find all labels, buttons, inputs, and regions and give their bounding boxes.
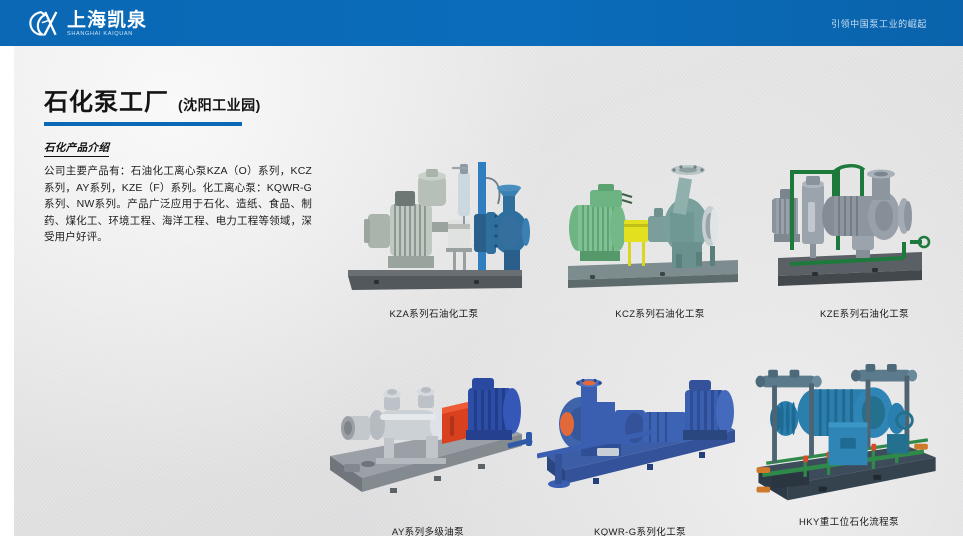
header-slogan: 引领中国泵工业的崛起 — [831, 0, 927, 46]
title-underline-rule — [44, 122, 242, 126]
kze-pump-illustration — [772, 154, 957, 302]
product-caption-hky: HKY重工位石化流程泵 — [748, 514, 950, 528]
product-card-hky[interactable]: HKY重工位石化流程泵 — [748, 362, 950, 528]
product-card-kqwr[interactable]: KQWR-G系列化工泵 — [537, 372, 743, 538]
page-title-sub: (沈阳工业园) — [178, 95, 261, 115]
hky-pump-illustration — [748, 362, 950, 510]
product-card-kcz[interactable]: KCZ系列石油化工泵 — [560, 154, 760, 320]
product-image-kcz — [560, 154, 760, 302]
kqwr-pump-illustration — [537, 372, 743, 520]
product-image-kza — [334, 154, 534, 302]
ay-pump-illustration — [322, 372, 534, 520]
kza-pump-illustration — [334, 154, 534, 302]
left-white-margin — [0, 46, 14, 550]
kaiquan-logo-mark-icon — [28, 10, 62, 38]
intro-block: 石化产品介绍 公司主要产品有：石油化工离心泵KZA（O）系列，KCZ系列，AY系… — [44, 138, 312, 246]
slide-body: 石化泵工厂 (沈阳工业园) 石化产品介绍 公司主要产品有：石油化工离心泵KZA（… — [0, 46, 963, 550]
logo-text-en: SHANGHAI KAIQUAN — [67, 32, 149, 38]
product-caption-kze: KZE系列石油化工泵 — [772, 306, 957, 320]
product-caption-kza: KZA系列石油化工泵 — [334, 306, 534, 320]
product-image-kze — [772, 154, 957, 302]
product-card-ay[interactable]: AY系列多级油泵 — [322, 372, 534, 538]
page-title: 石化泵工厂 (沈阳工业园) — [44, 82, 312, 117]
company-logo[interactable]: 上海凯泉 SHANGHAI KAIQUAN — [28, 9, 147, 39]
page-header: 上海凯泉 SHANGHAI KAIQUAN 引领中国泵工业的崛起 — [0, 0, 963, 46]
logo-text-cn: 上海凯泉 — [67, 11, 147, 30]
product-image-ay — [322, 372, 534, 520]
intro-body-text: 公司主要产品有：石油化工离心泵KZA（O）系列，KCZ系列，AY系列，KZE（F… — [44, 163, 312, 246]
bottom-white-margin — [0, 536, 963, 550]
kcz-pump-illustration — [560, 154, 760, 302]
slide-page: 上海凯泉 SHANGHAI KAIQUAN 引领中国泵工业的崛起 石化泵工厂 (… — [0, 0, 963, 550]
page-title-main: 石化泵工厂 — [44, 82, 169, 117]
intro-heading: 石化产品介绍 — [44, 140, 109, 157]
product-card-kze[interactable]: KZE系列石油化工泵 — [772, 154, 957, 320]
product-caption-kcz: KCZ系列石油化工泵 — [560, 306, 760, 320]
product-image-hky — [748, 362, 950, 510]
page-title-block: 石化泵工厂 (沈阳工业园) — [44, 82, 312, 126]
product-card-kza[interactable]: KZA系列石油化工泵 — [334, 154, 534, 320]
product-image-kqwr — [537, 372, 743, 520]
